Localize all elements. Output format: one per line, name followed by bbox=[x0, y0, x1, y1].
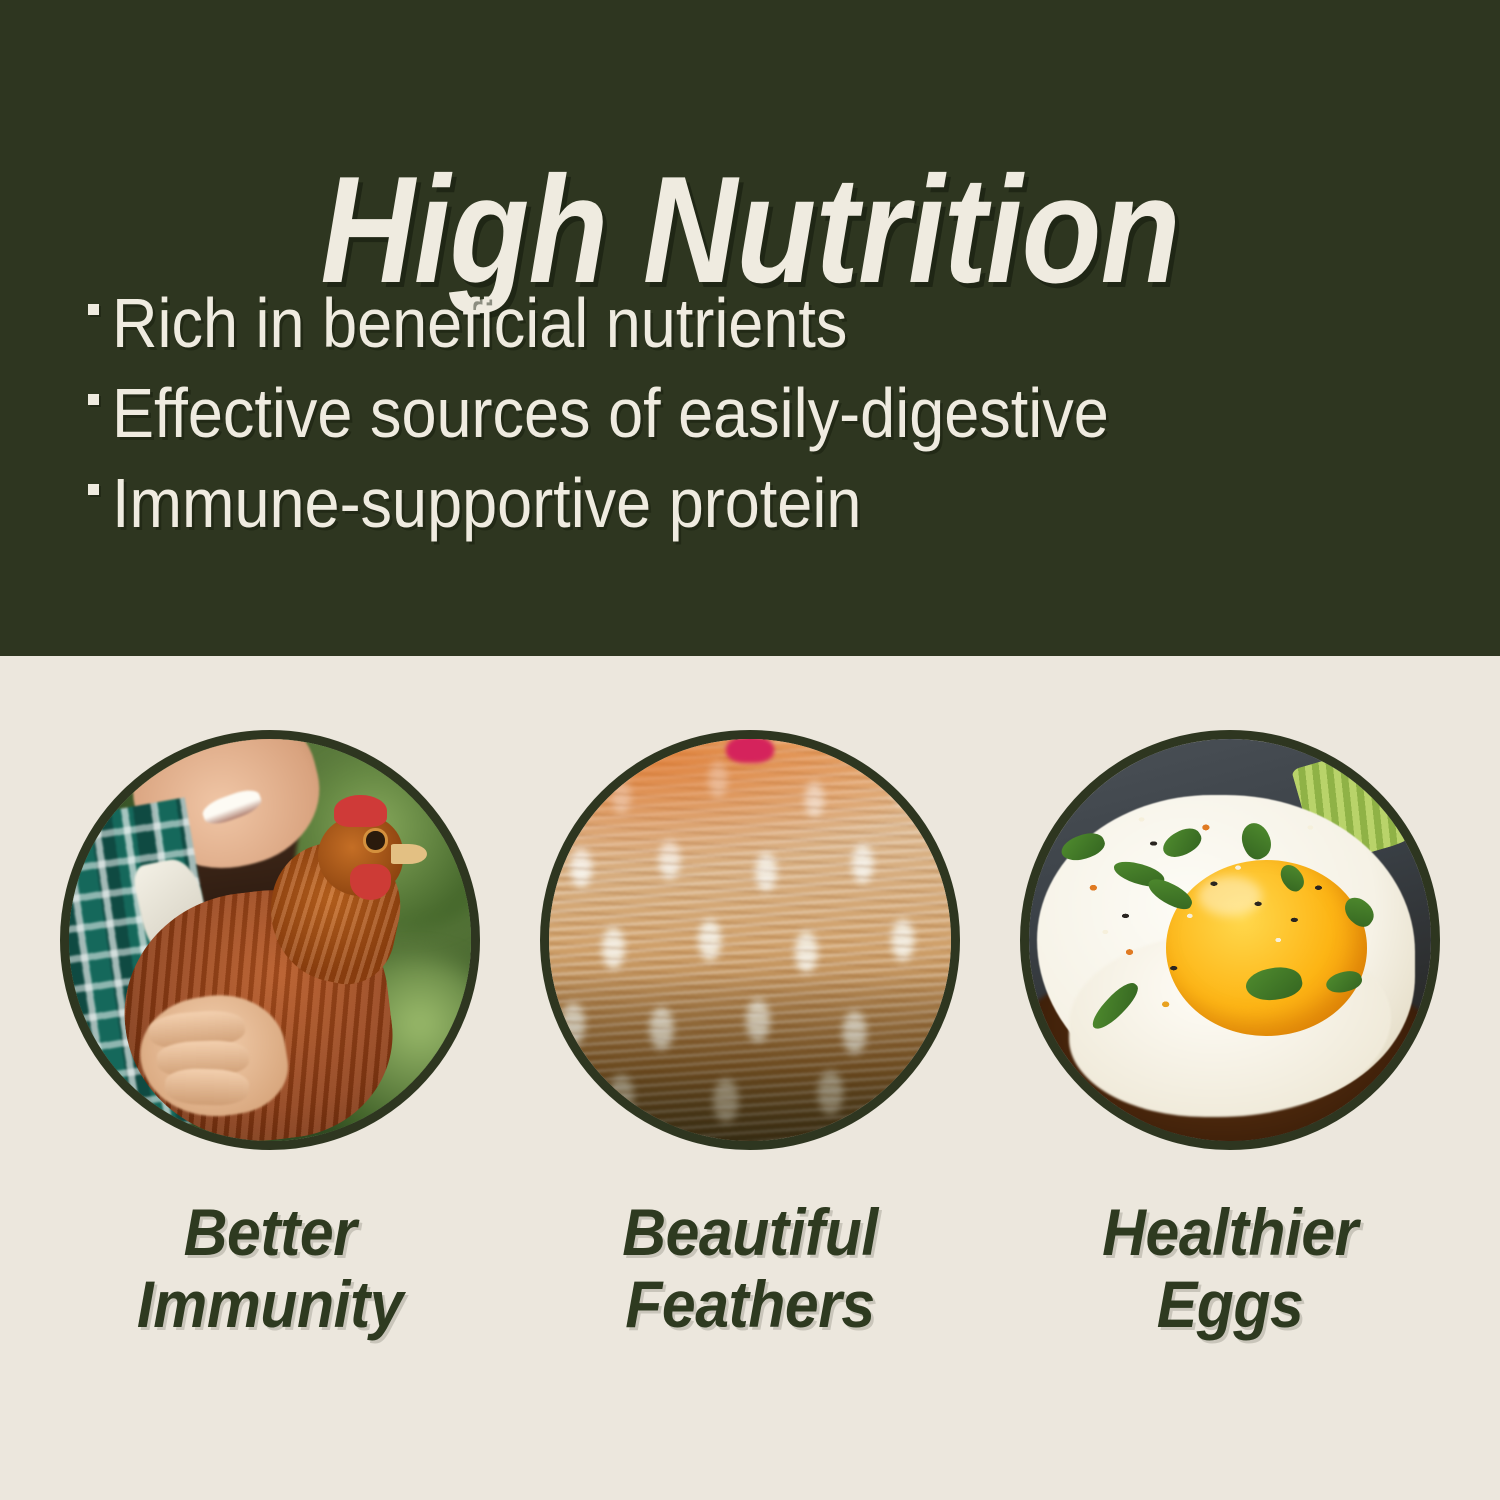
product-infographic: High Nutrition Rich in beneficial nutrie… bbox=[0, 0, 1500, 1500]
list-item: Immune-supportive protein bbox=[88, 462, 1428, 552]
list-item: Rich in beneficial nutrients bbox=[88, 282, 1428, 372]
caption-line-2: Immunity bbox=[77, 1268, 463, 1340]
benefit-caption-eggs: Healthier Eggs bbox=[1020, 1196, 1440, 1340]
chicken-feathers-closeup-photo bbox=[540, 730, 960, 1150]
benefit-card-feathers: Beautiful Feathers bbox=[540, 730, 960, 1340]
feature-bullet-list: Rich in beneficial nutrients Effective s… bbox=[88, 282, 1428, 552]
benefit-card-immunity: Better Immunity bbox=[60, 730, 480, 1340]
list-item: Effective sources of easily-digestive bbox=[88, 372, 1428, 462]
square-bullet-icon bbox=[88, 304, 99, 315]
benefit-caption-immunity: Better Immunity bbox=[60, 1196, 480, 1340]
benefit-caption-feathers: Beautiful Feathers bbox=[540, 1196, 960, 1340]
bullet-text: Effective sources of easily-digestive bbox=[112, 372, 1296, 454]
square-bullet-icon bbox=[88, 484, 99, 495]
caption-line-1: Healthier bbox=[1037, 1196, 1423, 1268]
square-bullet-icon bbox=[88, 394, 99, 405]
caption-line-1: Beautiful bbox=[557, 1196, 943, 1268]
bullet-text: Rich in beneficial nutrients bbox=[112, 282, 1296, 364]
woman-holding-hen-photo bbox=[60, 730, 480, 1150]
hero-panel: High Nutrition Rich in beneficial nutrie… bbox=[0, 0, 1500, 656]
bullet-text: Immune-supportive protein bbox=[112, 462, 1296, 544]
benefit-card-eggs: Healthier Eggs bbox=[1020, 730, 1440, 1340]
benefits-panel: Better Immunity Beautiful Feathers bbox=[0, 656, 1500, 1500]
caption-line-2: Feathers bbox=[557, 1268, 943, 1340]
caption-line-2: Eggs bbox=[1037, 1268, 1423, 1340]
caption-line-1: Better bbox=[77, 1196, 463, 1268]
fried-egg-avocado-photo bbox=[1020, 730, 1440, 1150]
